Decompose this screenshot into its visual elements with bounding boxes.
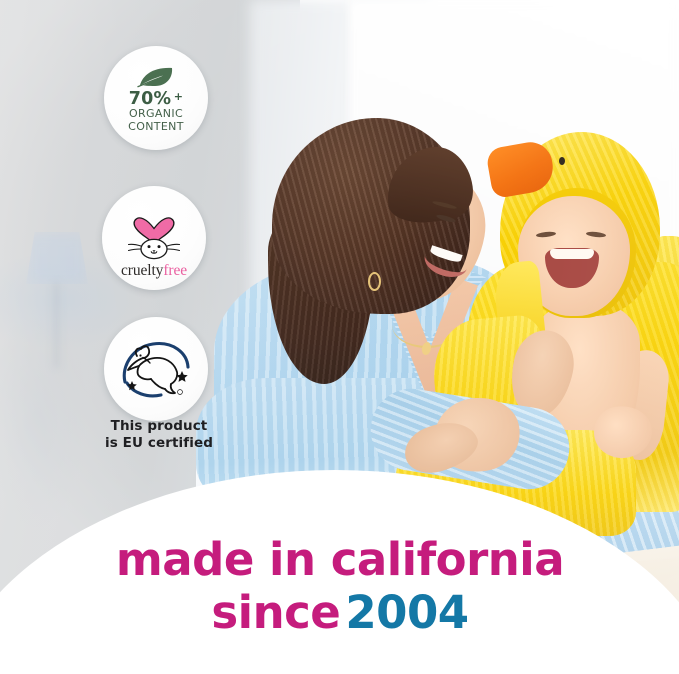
eu-certified-caption: This product is EU certified bbox=[0, 418, 318, 453]
duck-eye bbox=[559, 157, 565, 165]
leaping-bunny-icon bbox=[117, 336, 195, 402]
mother-earring bbox=[368, 272, 381, 291]
free-word: free bbox=[163, 262, 187, 279]
headline-since: since bbox=[211, 586, 340, 639]
organic-label-line2: CONTENT bbox=[128, 121, 184, 134]
cruelty-word: cruelty bbox=[121, 262, 163, 279]
eu-caption-line1: This product bbox=[0, 418, 318, 435]
eu-caption-line2: is EU certified bbox=[0, 435, 318, 452]
organic-percent-plus: + bbox=[174, 91, 183, 102]
badge-cruelty-free: crueltyfree bbox=[102, 186, 206, 290]
badge-organic-content: 70% + ORGANIC CONTENT bbox=[104, 46, 208, 150]
leaf-icon bbox=[137, 66, 175, 88]
product-banner-image: 70% + ORGANIC CONTENT bbox=[0, 0, 679, 674]
blurred-lamp-stem bbox=[54, 282, 59, 368]
headline-line1: made in california bbox=[40, 536, 640, 584]
baby-teeth bbox=[550, 249, 594, 259]
badge-eu-certified bbox=[104, 317, 208, 421]
cruelty-free-wordmark: crueltyfree bbox=[121, 262, 187, 280]
banner-headline: made in california since2004 bbox=[40, 536, 640, 636]
headline-line2: since2004 bbox=[40, 589, 640, 637]
bunny-heart-icon bbox=[116, 199, 192, 261]
organic-percent-row: 70% + bbox=[129, 91, 183, 109]
organic-percent-value: 70% bbox=[129, 91, 172, 109]
blurred-lamp-shade bbox=[26, 232, 88, 284]
headline-year: 2004 bbox=[345, 586, 468, 639]
